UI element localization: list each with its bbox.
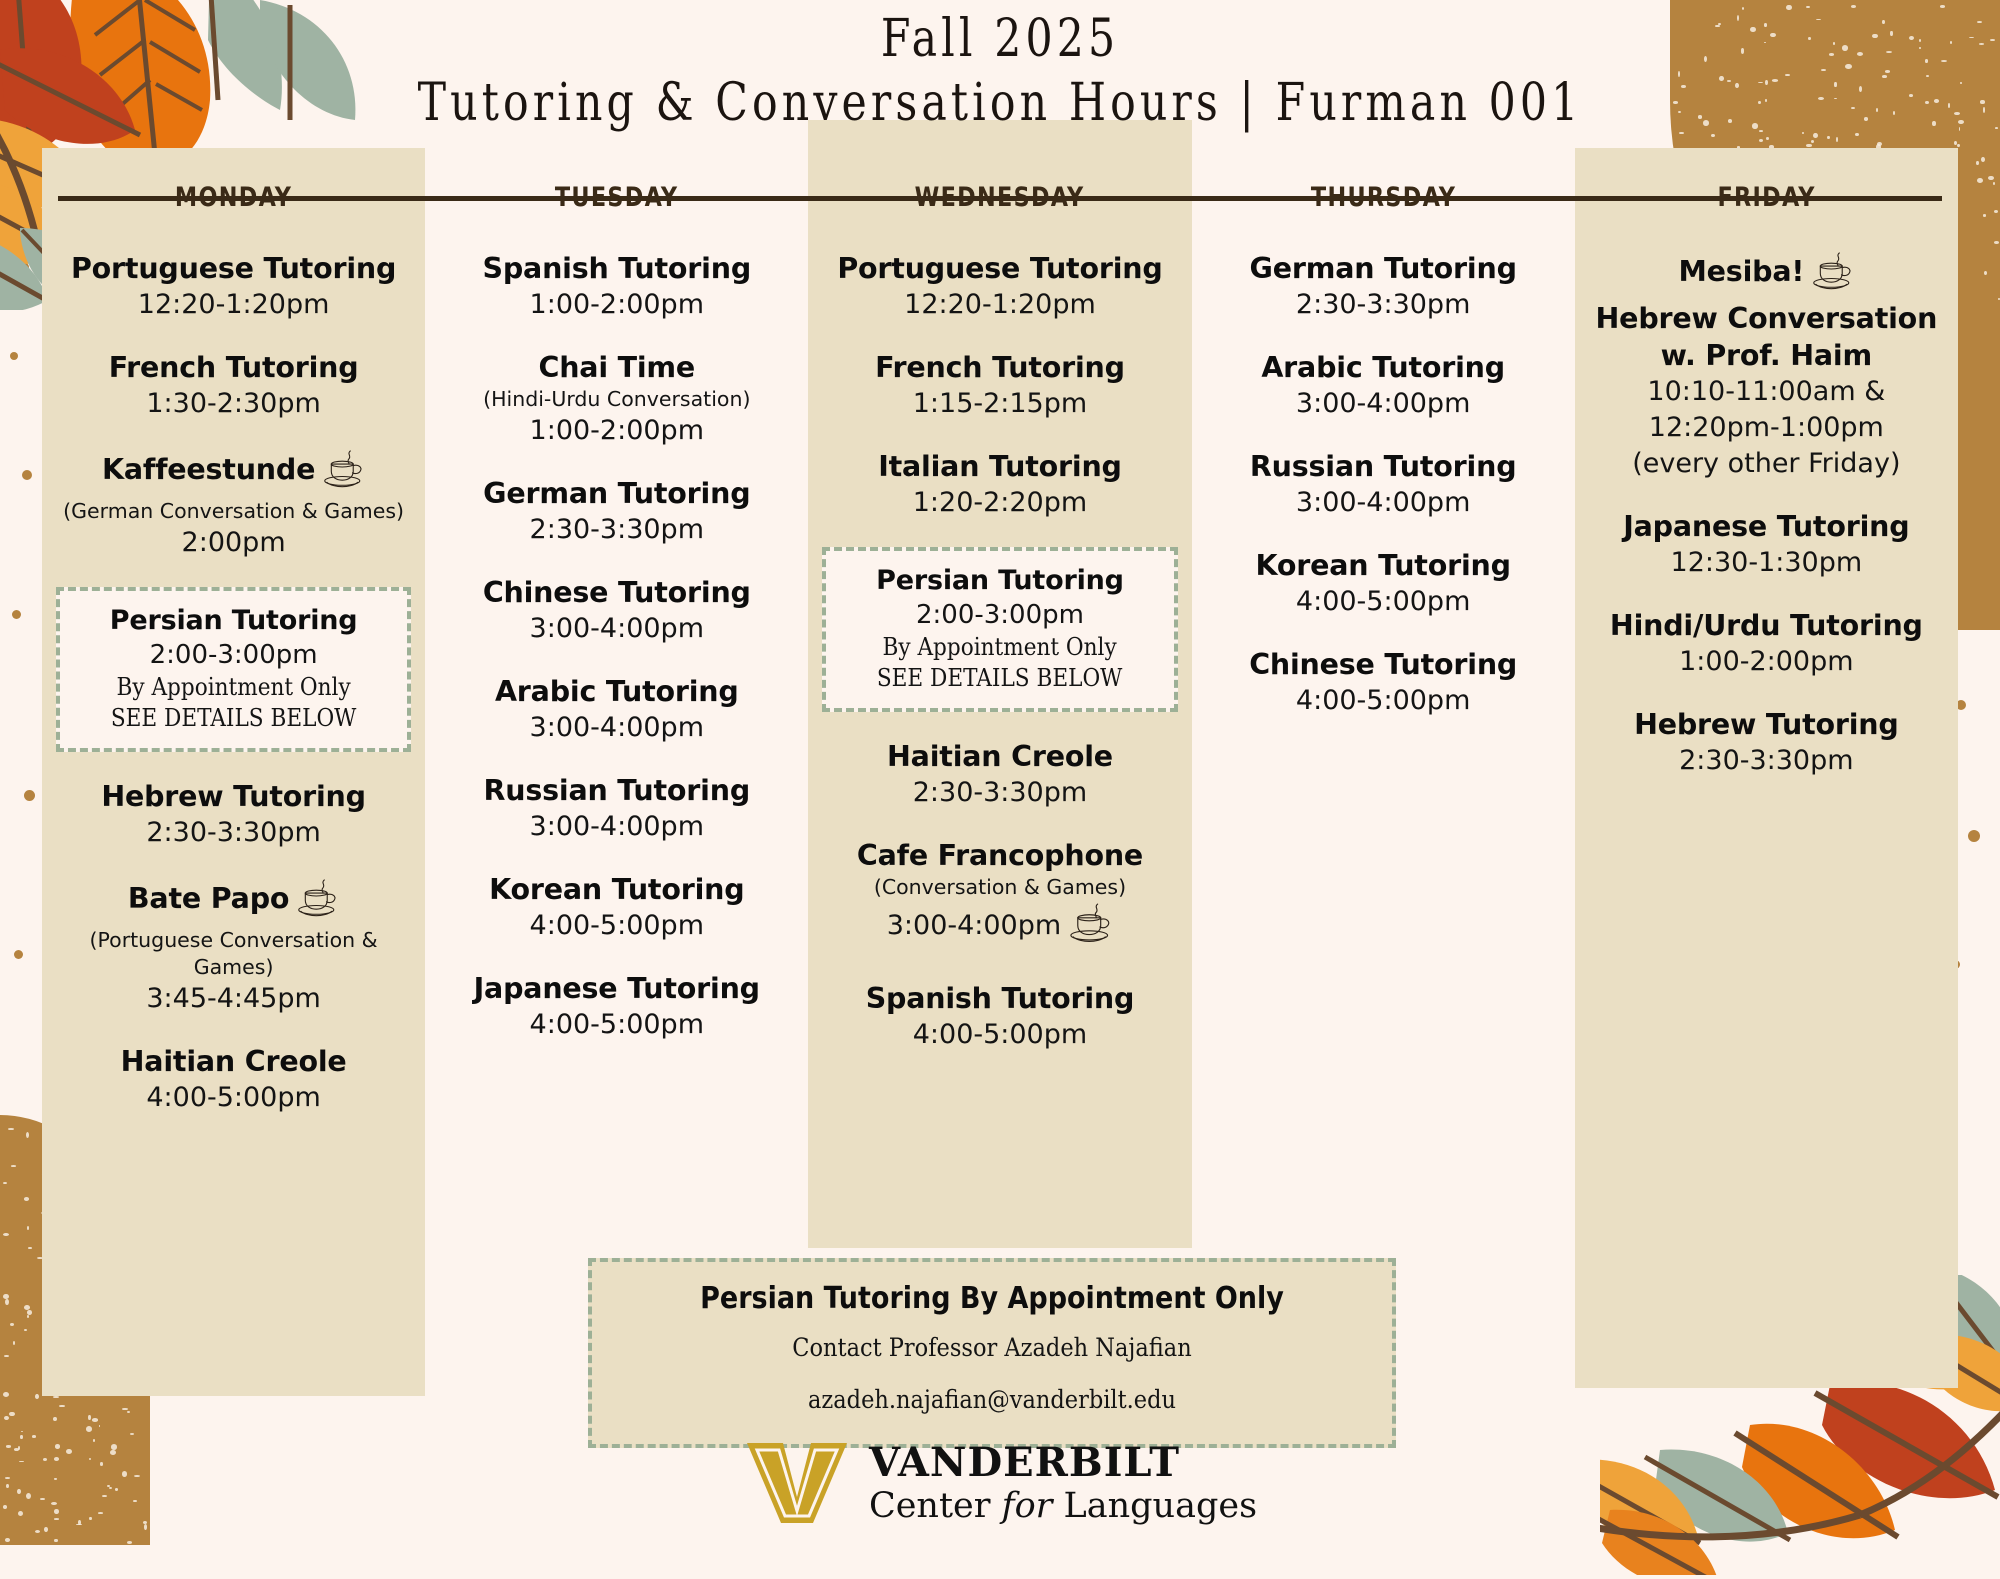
- day-header-friday: FRIDAY: [1590, 148, 1943, 228]
- event-name: Italian Tutoring: [820, 448, 1179, 485]
- event-time: 2:00-3:00pm: [66, 638, 401, 672]
- poster-title: Fall 2025 Tutoring & Conversation Hours …: [0, 8, 2000, 136]
- event-name: Korean Tutoring: [1204, 547, 1563, 584]
- schedule-grid: MONDAYPortuguese Tutoring12:20-1:20pmFre…: [42, 148, 1958, 1438]
- event-item: Hebrew Tutoring2:30-3:30pm: [42, 778, 425, 851]
- event-name: Spanish Tutoring: [437, 250, 796, 287]
- event-name: Bate Papo: [54, 877, 413, 927]
- event-time: 12:20-1:20pm: [820, 287, 1179, 323]
- day-column-wednesday: WEDNESDAYPortuguese Tutoring12:20-1:20pm…: [808, 148, 1191, 1438]
- logo-unit: Center for Languages: [869, 1489, 1257, 1524]
- event-time: 3:00-4:00pm: [437, 710, 796, 746]
- decor-dot: [12, 610, 21, 619]
- note-heading: Persian Tutoring By Appointment Only: [602, 1276, 1382, 1322]
- event-item: Japanese Tutoring4:00-5:00pm: [425, 970, 808, 1043]
- day-events: German Tutoring2:30-3:30pmArabic Tutorin…: [1192, 228, 1575, 719]
- event-name: Kaffeestunde: [54, 448, 413, 498]
- event-callout: Persian Tutoring2:00-3:00pmBy Appointmen…: [56, 587, 411, 752]
- event-item: French Tutoring1:30-2:30pm: [42, 349, 425, 422]
- event-item: Russian Tutoring3:00-4:00pm: [1192, 448, 1575, 521]
- coffee-cup-icon: [1067, 901, 1113, 954]
- event-time: 1:00-2:00pm: [437, 413, 796, 449]
- event-item: German Tutoring2:30-3:30pm: [425, 475, 808, 548]
- event-time-line-2: 12:20pm-1:00pm: [1587, 410, 1946, 446]
- event-time: 1:30-2:30pm: [54, 386, 413, 422]
- event-time: 3:00-4:00pm: [820, 901, 1179, 954]
- event-name: Mesiba!: [1587, 250, 1946, 300]
- event-time: 4:00-5:00pm: [820, 1017, 1179, 1053]
- event-name: Russian Tutoring: [437, 772, 796, 809]
- note-email-line: azadeh.najafian@vanderbilt.edu: [641, 1374, 1343, 1426]
- event-item: Portuguese Tutoring12:20-1:20pm: [42, 250, 425, 323]
- event-time: 4:00-5:00pm: [54, 1080, 413, 1116]
- decor-dot: [14, 950, 23, 959]
- event-time: 2:30-3:30pm: [820, 775, 1179, 811]
- event-time: 1:20-2:20pm: [820, 485, 1179, 521]
- day-column-friday: FRIDAYMesiba!Hebrew Conversationw. Prof.…: [1575, 148, 1958, 1438]
- event-time: 2:30-3:30pm: [54, 815, 413, 851]
- event-name: Portuguese Tutoring: [54, 250, 413, 287]
- event-name: Cafe Francophone: [820, 837, 1179, 874]
- event-item: Haitian Creole4:00-5:00pm: [42, 1043, 425, 1116]
- event-time: 2:30-3:30pm: [437, 512, 796, 548]
- event-time: 1:15-2:15pm: [820, 386, 1179, 422]
- event-time: 3:00-4:00pm: [1204, 485, 1563, 521]
- title-line-1: Fall 2025: [180, 8, 1820, 70]
- event-time: 4:00-5:00pm: [1204, 683, 1563, 719]
- event-time: 3:00-4:00pm: [437, 611, 796, 647]
- event-time: 2:00-3:00pm: [832, 598, 1167, 632]
- day-events: Portuguese Tutoring12:20-1:20pmFrench Tu…: [808, 228, 1191, 1053]
- decor-dot: [24, 790, 35, 801]
- event-name: French Tutoring: [54, 349, 413, 386]
- event-time: 1:00-2:00pm: [1587, 644, 1946, 680]
- event-item: Cafe Francophone(Conversation & Games)3:…: [808, 837, 1191, 954]
- event-item: Japanese Tutoring12:30-1:30pm: [1575, 508, 1958, 581]
- event-note-see-details: SEE DETAILS BELOW: [849, 663, 1151, 694]
- event-note-appointment: By Appointment Only: [83, 672, 385, 703]
- day-events: Spanish Tutoring1:00-2:00pmChai Time(Hin…: [425, 228, 808, 1043]
- event-item: Korean Tutoring4:00-5:00pm: [425, 871, 808, 944]
- event-name: Arabic Tutoring: [437, 673, 796, 710]
- event-item: Hebrew Tutoring2:30-3:30pm: [1575, 706, 1958, 779]
- event-item: Arabic Tutoring3:00-4:00pm: [425, 673, 808, 746]
- event-item: Haitian Creole2:30-3:30pm: [808, 738, 1191, 811]
- logo-unit-pre: Center: [869, 1486, 1002, 1526]
- note-contact-line: Contact Professor Azadeh Najafian: [641, 1322, 1343, 1374]
- event-time: 1:00-2:00pm: [437, 287, 796, 323]
- poster: Fall 2025 Tutoring & Conversation Hours …: [0, 0, 2000, 1545]
- event-time: 2:30-3:30pm: [1587, 743, 1946, 779]
- logo-unit-italic: for: [1002, 1486, 1053, 1526]
- event-subtitle: (Portuguese Conversation & Games): [54, 927, 413, 981]
- event-item: German Tutoring2:30-3:30pm: [1192, 250, 1575, 323]
- event-time: 3:00-4:00pm: [437, 809, 796, 845]
- event-time: 3:45-4:45pm: [54, 981, 413, 1017]
- logo-text: VANDERBILT Center for Languages: [869, 1443, 1257, 1524]
- day-column-monday: MONDAYPortuguese Tutoring12:20-1:20pmFre…: [42, 148, 425, 1438]
- event-name: Russian Tutoring: [1204, 448, 1563, 485]
- event-name-line-2: Hebrew Conversation: [1587, 300, 1946, 337]
- logo-unit-post: Languages: [1052, 1486, 1257, 1526]
- event-name: Chinese Tutoring: [437, 574, 796, 611]
- decor-dot: [10, 352, 18, 360]
- event-name: Hindi/Urdu Tutoring: [1587, 607, 1946, 644]
- header-divider-rule: [58, 196, 1942, 201]
- event-callout: Persian Tutoring2:00-3:00pmBy Appointmen…: [822, 547, 1177, 712]
- decor-dot: [1968, 830, 1980, 842]
- event-subtitle: (Conversation & Games): [820, 874, 1179, 901]
- day-events: Mesiba!Hebrew Conversationw. Prof. Haim1…: [1575, 228, 1958, 779]
- logo-name: VANDERBILT: [869, 1443, 1257, 1483]
- event-subtitle: (Hindi-Urdu Conversation): [437, 386, 796, 413]
- day-column-tuesday: TUESDAYSpanish Tutoring1:00-2:00pmChai T…: [425, 148, 808, 1438]
- event-item: Arabic Tutoring3:00-4:00pm: [1192, 349, 1575, 422]
- event-time: 4:00-5:00pm: [1204, 584, 1563, 620]
- event-name: German Tutoring: [1204, 250, 1563, 287]
- coffee-cup-icon: [295, 877, 339, 927]
- event-note-appointment: By Appointment Only: [849, 632, 1151, 663]
- event-item: Russian Tutoring3:00-4:00pm: [425, 772, 808, 845]
- day-header-thursday: THURSDAY: [1207, 148, 1560, 228]
- day-events: Portuguese Tutoring12:20-1:20pmFrench Tu…: [42, 228, 425, 1116]
- event-name: Chai Time: [437, 349, 796, 386]
- event-name: German Tutoring: [437, 475, 796, 512]
- event-name: Japanese Tutoring: [1587, 508, 1946, 545]
- event-name: Chinese Tutoring: [1204, 646, 1563, 683]
- event-name: Haitian Creole: [54, 1043, 413, 1080]
- persian-tutoring-note-box: Persian Tutoring By Appointment Only Con…: [588, 1258, 1396, 1448]
- event-time: 12:30-1:30pm: [1587, 545, 1946, 581]
- event-item: Spanish Tutoring1:00-2:00pm: [425, 250, 808, 323]
- event-item: Italian Tutoring1:20-2:20pm: [808, 448, 1191, 521]
- event-name: Portuguese Tutoring: [820, 250, 1179, 287]
- event-name: Persian Tutoring: [66, 603, 401, 638]
- event-note-see-details: SEE DETAILS BELOW: [83, 703, 385, 734]
- day-header-wednesday: WEDNESDAY: [824, 148, 1177, 228]
- event-frequency-note: (every other Friday): [1587, 446, 1946, 482]
- event-name: Hebrew Tutoring: [54, 778, 413, 815]
- event-item: Chinese Tutoring3:00-4:00pm: [425, 574, 808, 647]
- event-item: Kaffeestunde(German Conversation & Games…: [42, 448, 425, 561]
- event-time: 4:00-5:00pm: [437, 1007, 796, 1043]
- title-line-2: Tutoring & Conversation Hours | Furman 0…: [180, 70, 1820, 136]
- event-time: 2:00pm: [54, 525, 413, 561]
- event-item: Spanish Tutoring4:00-5:00pm: [808, 980, 1191, 1053]
- event-item: Mesiba!Hebrew Conversationw. Prof. Haim1…: [1575, 250, 1958, 482]
- event-time: 2:30-3:30pm: [1204, 287, 1563, 323]
- event-name: Spanish Tutoring: [820, 980, 1179, 1017]
- event-item: French Tutoring1:15-2:15pm: [808, 349, 1191, 422]
- coffee-cup-icon: [321, 448, 365, 498]
- event-name: Korean Tutoring: [437, 871, 796, 908]
- vanderbilt-v-icon: [743, 1439, 851, 1527]
- event-time: 10:10-11:00am &: [1587, 374, 1946, 410]
- event-name: Japanese Tutoring: [437, 970, 796, 1007]
- event-item: Portuguese Tutoring12:20-1:20pm: [808, 250, 1191, 323]
- day-header-monday: MONDAY: [57, 148, 410, 228]
- event-item: Chai Time(Hindi-Urdu Conversation)1:00-2…: [425, 349, 808, 449]
- event-item: Hindi/Urdu Tutoring1:00-2:00pm: [1575, 607, 1958, 680]
- event-name: Hebrew Tutoring: [1587, 706, 1946, 743]
- day-header-tuesday: TUESDAY: [441, 148, 794, 228]
- event-name-line-3: w. Prof. Haim: [1587, 337, 1946, 374]
- event-name: Persian Tutoring: [832, 563, 1167, 598]
- day-column-thursday: THURSDAYGerman Tutoring2:30-3:30pmArabic…: [1192, 148, 1575, 1438]
- vanderbilt-logo: VANDERBILT Center for Languages: [0, 1435, 2000, 1531]
- event-subtitle: (German Conversation & Games): [54, 498, 413, 525]
- event-time: 3:00-4:00pm: [1204, 386, 1563, 422]
- event-name: Haitian Creole: [820, 738, 1179, 775]
- decor-dot: [22, 470, 32, 480]
- event-time: 12:20-1:20pm: [54, 287, 413, 323]
- event-name: Arabic Tutoring: [1204, 349, 1563, 386]
- coffee-cup-icon: [1810, 250, 1854, 300]
- event-name: French Tutoring: [820, 349, 1179, 386]
- event-item: Chinese Tutoring4:00-5:00pm: [1192, 646, 1575, 719]
- event-item: Bate Papo(Portuguese Conversation & Game…: [42, 877, 425, 1017]
- event-time: 4:00-5:00pm: [437, 908, 796, 944]
- event-item: Korean Tutoring4:00-5:00pm: [1192, 547, 1575, 620]
